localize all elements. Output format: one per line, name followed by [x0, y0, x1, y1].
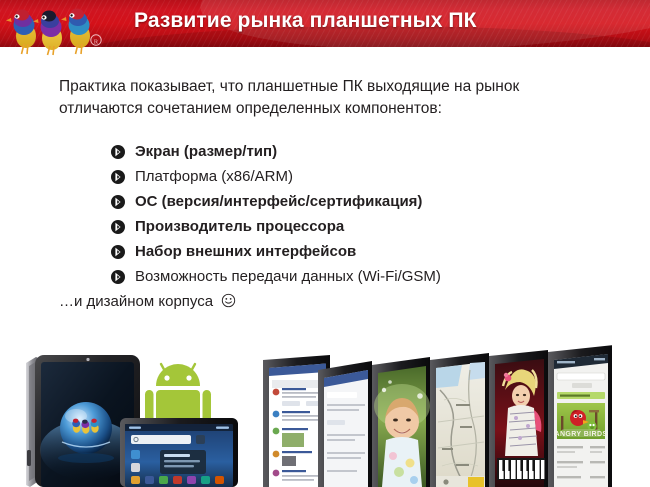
svg-text:ANGRY BIRDS: ANGRY BIRDS	[554, 431, 607, 438]
list-item-label: Экран (размер/тип)	[135, 143, 277, 160]
svg-text:R: R	[94, 38, 99, 45]
component-bullet-list: Экран (размер/тип) Платформа (x86/ARM)	[110, 139, 580, 289]
list-item-label: Набор внешних интерфейсов	[135, 243, 356, 260]
list-item: Платформа (x86/ARM)	[110, 164, 580, 189]
list-item: Возможность передачи данных (Wi-Fi/GSM)	[110, 264, 580, 289]
chevron-circle-bullet-icon	[110, 194, 126, 210]
list-item: Набор внешних интерфейсов	[110, 239, 580, 264]
list-item: Производитель процессора	[110, 214, 580, 239]
tablet-angry-birds-store: ANGRY BIRDS	[548, 345, 614, 487]
tablet-facebook-feed-2	[318, 361, 372, 487]
list-item-label: ОС (версия/интерфейс/сертификация)	[135, 193, 422, 210]
list-item-label: Возможность передачи данных (Wi-Fi/GSM)	[135, 268, 441, 285]
tablet-singer-keyboard	[489, 350, 548, 487]
intro-paragraph: Практика показывает, что планшетные ПК в…	[59, 76, 599, 120]
tablet-child-photo	[372, 357, 430, 487]
three-finches-logo: R	[4, 0, 114, 56]
chevron-circle-bullet-icon	[110, 269, 126, 285]
chevron-circle-bullet-icon	[110, 169, 126, 185]
tablet-photo-strip: ANGRY BIRDS	[0, 330, 650, 487]
list-item: Экран (размер/тип)	[110, 139, 580, 164]
chevron-circle-bullet-icon	[110, 244, 126, 260]
list-item-label: Платформа (x86/ARM)	[135, 168, 293, 185]
tablet-android-home	[120, 418, 238, 487]
chevron-circle-bullet-icon	[110, 219, 126, 235]
slide-root: Развитие рынка планшетных ПК	[0, 0, 650, 487]
list-item: ОС (версия/интерфейс/сертификация)	[110, 189, 580, 214]
smiley-face-icon	[221, 293, 236, 312]
intro-line-1: Практика показывает, что планшетные ПК в…	[59, 76, 599, 98]
page-title: Развитие рынка планшетных ПК	[134, 9, 477, 33]
tablet-map	[430, 353, 489, 487]
closing-text: …и дизайном корпуса	[59, 293, 213, 310]
list-item-label: Производитель процессора	[135, 218, 344, 235]
chevron-circle-bullet-icon	[110, 144, 126, 160]
closing-line: …и дизайном корпуса	[59, 293, 236, 312]
intro-line-2: отличаются сочетанием определенных компо…	[59, 98, 599, 120]
